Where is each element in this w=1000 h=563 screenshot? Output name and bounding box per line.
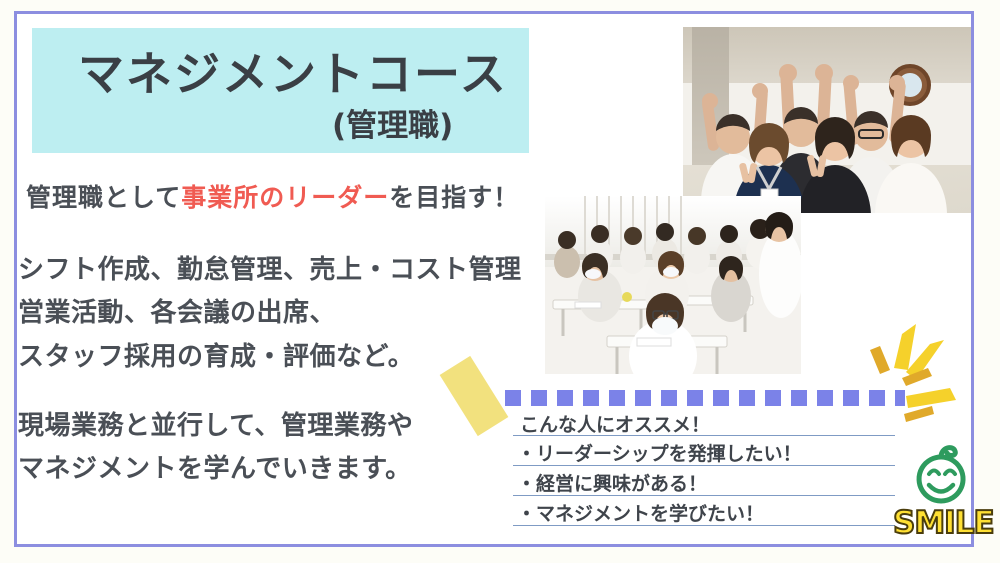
recommend-rule-1 [513, 435, 895, 436]
recommend-item-1: ・リーダーシップを発揮したい！ [517, 439, 802, 466]
classroom-seminar-photo [545, 196, 801, 374]
lead-statement: 管理職として事業所のリーダーを目指す！ [26, 178, 519, 214]
recommend-box: こんな人にオススメ！ ・リーダーシップを発揮したい！ ・経営に興味がある！ ・マ… [505, 390, 915, 530]
dashed-top-border [505, 390, 905, 406]
recommend-rule-3 [513, 495, 895, 496]
recommend-rule-2 [513, 465, 895, 466]
recommend-heading: こんな人にオススメ！ [520, 410, 710, 437]
body-line-5: マネジメントを学んでいきます。 [18, 448, 412, 485]
title-banner: マネジメントコース (管理職) [32, 28, 529, 153]
classroom-students [545, 196, 801, 374]
body-line-3: スタッフ採用の育成・評価など。 [18, 336, 414, 373]
body-line-4: 現場業務と並行して、管理業務や [18, 405, 413, 442]
recommend-item-2: ・経営に興味がある！ [517, 469, 707, 496]
lead-highlight: 事業所のリーダー [181, 183, 389, 212]
logo-wordmark: SMILE [893, 505, 989, 541]
lead-suffix: を目指す！ [389, 183, 519, 212]
group-cheer-photo [683, 27, 971, 213]
body-line-2: 営業活動、各会議の出席、 [18, 292, 336, 329]
smiley-face-icon [893, 443, 989, 507]
smile-logo: SMILE [893, 443, 989, 543]
recommend-rule-4 [513, 525, 895, 526]
page-subtitle: (管理職) [332, 100, 453, 145]
slide-canvas: マネジメントコース (管理職) 管理職として事業所のリーダーを目指す！ シフト作… [0, 0, 1000, 563]
body-line-1: シフト作成、勤怠管理、売上・コスト管理 [18, 249, 522, 286]
lead-prefix: 管理職として [26, 183, 181, 212]
photo-people-group [683, 27, 971, 213]
recommend-item-3: ・マネジメントを学びたい！ [517, 499, 764, 526]
page-title: マネジメントコース [78, 38, 508, 104]
